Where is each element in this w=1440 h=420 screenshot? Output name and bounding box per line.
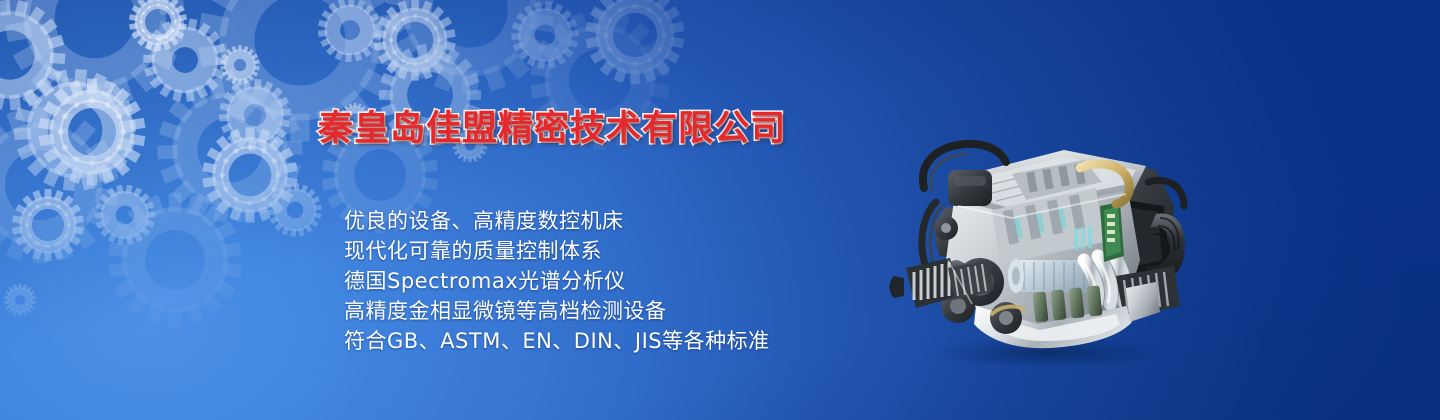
- car-engine-cutaway-photo: [888, 110, 1198, 365]
- feature-item: 符合GB、ASTM、EN、DIN、JIS等各种标准: [344, 326, 964, 356]
- feature-item: 高精度金相显微镜等高档检测设备: [344, 296, 964, 326]
- feature-item: 优良的设备、高精度数控机床: [344, 206, 964, 236]
- feature-item: 现代化可靠的质量控制体系: [344, 236, 964, 266]
- page-title: 秦皇岛佳盟精密技术有限公司: [318, 100, 786, 151]
- company-banner: 秦皇岛佳盟精密技术有限公司 优良的设备、高精度数控机床 现代化可靠的质量控制体系…: [0, 0, 1440, 420]
- feature-item: 德国Spectromax光谱分析仪: [344, 266, 964, 296]
- feature-list: 优良的设备、高精度数控机床 现代化可靠的质量控制体系 德国Spectromax光…: [344, 206, 964, 356]
